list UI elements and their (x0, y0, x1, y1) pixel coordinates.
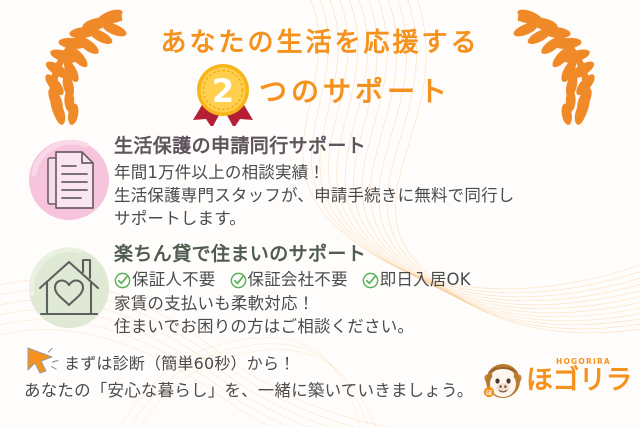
footer-section: まずは診断（簡単60秒）から！ あなたの「安心な暮らし」を、一緒に築いていきまし… (0, 350, 640, 402)
support-item-welfare: 生活保護の申請同行サポート 年間1万件以上の相談実績！ 生活保護専門スタッフが、… (0, 134, 640, 230)
brand-kana: ほゴリラ (526, 365, 632, 396)
support-item-welfare-line-3: サポートします。 (114, 207, 630, 230)
support-item-welfare-line-1: 年間1万件以上の相談実績！ (114, 161, 630, 184)
documents-icon (24, 134, 114, 226)
gold-medal-icon: 2 (189, 60, 257, 126)
medal-number: 2 (212, 72, 234, 110)
house-heart-icon (24, 242, 114, 334)
benefit-no-guarantor-label: 保証人不要 (132, 269, 216, 291)
page-subline: つのサポート (259, 78, 451, 108)
support-item-housing-line-2: 住まいでお困りの方はご相談ください。 (114, 315, 630, 338)
brand-logo[interactable]: ほ HOGORIRA ほゴリラ (482, 361, 632, 403)
page-headline: あなたの生活を応援する (0, 22, 640, 59)
poster-canvas: あなたの生活を応援する 2 つのサポート (0, 0, 640, 427)
benefit-no-guarantee-company-label: 保証会社不要 (248, 269, 348, 291)
brand-wordmark: HOGORIRA ほゴリラ (526, 367, 632, 394)
svg-text:ほ: ほ (486, 390, 493, 397)
check-circle-icon (114, 272, 131, 289)
headline-subline-row: 2 つのサポート (0, 60, 640, 126)
benefit-no-guarantor: 保証人不要 (114, 269, 216, 291)
support-item-housing: 楽ちん貸で住まいのサポート 保証人不要 保証会社不要 (0, 242, 640, 338)
check-circle-icon (230, 272, 247, 289)
footer-cta-text: まずは診断（簡単60秒）から！ (64, 353, 295, 375)
footer-cta-line: まずは診断（簡単60秒）から！ (22, 350, 478, 376)
support-item-welfare-title: 生活保護の申請同行サポート (114, 136, 630, 158)
benefit-same-day-move-in-label: 即日入居OK (380, 269, 471, 291)
support-item-housing-body: 楽ちん貸で住まいのサポート 保証人不要 保証会社不要 (114, 242, 640, 338)
support-item-welfare-body: 生活保護の申請同行サポート 年間1万件以上の相談実績！ 生活保護専門スタッフが、… (114, 134, 640, 230)
housing-benefit-list: 保証人不要 保証会社不要 即日入居OK (114, 269, 630, 291)
benefit-no-guarantee-company: 保証会社不要 (230, 269, 348, 291)
brand-romaji: HOGORIRA (556, 358, 611, 366)
footer-closing-text: あなたの「安心な暮らし」を、一緒に築いていきましょう。 (24, 379, 478, 402)
support-item-welfare-line-2: 生活保護専門スタッフが、申請手続きに無料で同行し (114, 184, 630, 207)
check-circle-icon (362, 272, 379, 289)
benefit-same-day-move-in: 即日入居OK (362, 269, 471, 291)
gorilla-mascot-icon: ほ (482, 361, 524, 401)
click-cursor-icon (22, 344, 62, 376)
support-item-housing-line-1: 家賃の支払いも柔軟対応！ (114, 292, 630, 315)
header-section: あなたの生活を応援する 2 つのサポート (0, 0, 640, 128)
support-item-housing-title: 楽ちん貸で住まいのサポート (114, 244, 630, 266)
footer-text-block: まずは診断（簡単60秒）から！ あなたの「安心な暮らし」を、一緒に築いていきまし… (22, 350, 478, 402)
